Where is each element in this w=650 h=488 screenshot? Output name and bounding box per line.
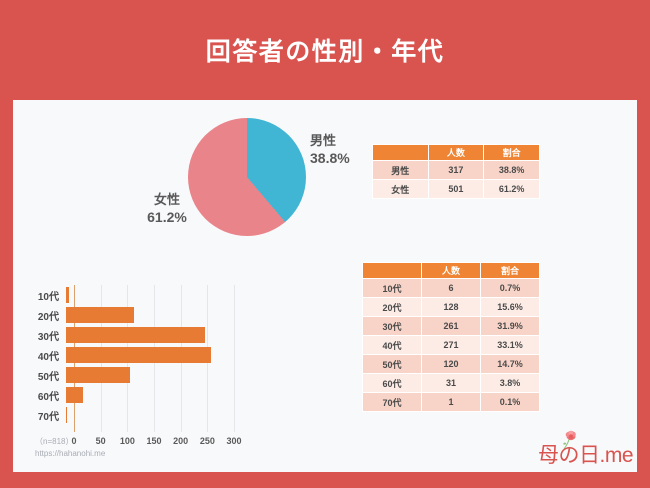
table-row: 60代313.8%: [363, 374, 540, 393]
infographic-root: 回答者の性別・年代 男性 38.8% 女性 61.2% 人数 割合 男性3173…: [0, 0, 650, 488]
x-axis-tick-label: 200: [173, 436, 188, 446]
gender-table-th-0: [373, 145, 429, 161]
source-url: https://hahanohi.me: [35, 448, 105, 460]
gender-pie-chart: [188, 118, 306, 236]
age-table-cell-label: 10代: [363, 279, 422, 298]
age-table-cell-pct: 0.1%: [481, 393, 540, 412]
gender-table-cell-label: 女性: [373, 180, 429, 199]
table-row: 女性50161.2%: [373, 180, 540, 199]
age-table-cell-label: 60代: [363, 374, 422, 393]
x-axis-tick-label: 100: [120, 436, 135, 446]
gender-table-cell-pct: 38.8%: [484, 161, 540, 180]
site-logo[interactable]: 母の日.me: [538, 430, 642, 468]
age-table-cell-count: 120: [422, 355, 481, 374]
age-table-cell-count: 271: [422, 336, 481, 355]
table-header-row: 人数 割合: [363, 263, 540, 279]
table-row: 70代10.1%: [363, 393, 540, 412]
table-row: 10代60.7%: [363, 279, 540, 298]
bar-category-label: 50代: [21, 368, 66, 383]
gender-table-body: 男性31738.8%女性50161.2%: [373, 161, 540, 199]
gridline: [234, 285, 235, 432]
bar-category-label: 10代: [21, 288, 66, 303]
gender-table-cell-label: 男性: [373, 161, 429, 180]
age-table-th-1: 人数: [422, 263, 481, 279]
age-table-th-2: 割合: [481, 263, 540, 279]
age-table-cell-count: 6: [422, 279, 481, 298]
age-table: 人数 割合 10代60.7%20代12815.6%30代26131.9%40代2…: [362, 262, 540, 412]
age-bar-chart: 10代20代30代40代50代60代70代 050100150200250300: [21, 285, 331, 460]
bar-fill: [66, 307, 134, 323]
gender-table-cell-count: 501: [428, 180, 484, 199]
gender-table-th-2: 割合: [484, 145, 540, 161]
bar-row: 40代: [21, 345, 331, 365]
bar-category-label: 40代: [21, 348, 66, 363]
age-table-cell-count: 128: [422, 298, 481, 317]
age-table-cell-label: 30代: [363, 317, 422, 336]
bar-track: [66, 325, 226, 345]
gender-table: 人数 割合 男性31738.8%女性50161.2%: [372, 144, 540, 199]
pie-disc: [188, 118, 306, 236]
bar-fill: [66, 407, 67, 423]
pie-label-female-name: 女性: [138, 191, 196, 208]
table-row: 20代12815.6%: [363, 298, 540, 317]
bar-category-label: 70代: [21, 408, 66, 423]
gender-table-cell-count: 317: [428, 161, 484, 180]
age-table-cell-pct: 33.1%: [481, 336, 540, 355]
table-row: 男性31738.8%: [373, 161, 540, 180]
age-table-body: 10代60.7%20代12815.6%30代26131.9%40代27133.1…: [363, 279, 540, 412]
content-card: 男性 38.8% 女性 61.2% 人数 割合 男性31738.8%女性5016…: [13, 100, 637, 472]
footnote: （n=818） https://hahanohi.me: [35, 436, 105, 460]
age-table-cell-pct: 31.9%: [481, 317, 540, 336]
bar-fill: [66, 387, 83, 403]
age-table-cell-pct: 3.8%: [481, 374, 540, 393]
bar-category-label: 30代: [21, 328, 66, 343]
age-table-cell-count: 1: [422, 393, 481, 412]
gender-table-th-1: 人数: [428, 145, 484, 161]
bar-fill: [66, 287, 69, 303]
bar-category-label: 20代: [21, 308, 66, 323]
gender-table-head: 人数 割合: [373, 145, 540, 161]
pie-label-male: 男性 38.8%: [310, 132, 350, 167]
age-table-cell-count: 31: [422, 374, 481, 393]
age-table-cell-label: 20代: [363, 298, 422, 317]
pie-label-female: 女性 61.2%: [138, 191, 196, 226]
logo-text: 母の日.me: [538, 444, 633, 468]
page-title: 回答者の性別・年代: [206, 32, 445, 68]
x-axis-tick-label: 150: [146, 436, 161, 446]
table-header-row: 人数 割合: [373, 145, 540, 161]
table-row: 40代27133.1%: [363, 336, 540, 355]
sample-size-note: （n=818）: [35, 436, 105, 448]
bar-track: [66, 345, 226, 365]
gender-table-cell-pct: 61.2%: [484, 180, 540, 199]
age-table-cell-count: 261: [422, 317, 481, 336]
age-table-cell-label: 40代: [363, 336, 422, 355]
age-table-cell-pct: 0.7%: [481, 279, 540, 298]
pie-label-female-pct: 61.2%: [138, 208, 196, 226]
table-row: 30代26131.9%: [363, 317, 540, 336]
bar-fill: [66, 367, 130, 383]
bar-category-label: 60代: [21, 388, 66, 403]
x-axis-tick-label: 300: [226, 436, 241, 446]
bar-fill: [66, 327, 205, 343]
pie-label-male-name: 男性: [310, 132, 350, 149]
age-table-cell-label: 70代: [363, 393, 422, 412]
header-bar: 回答者の性別・年代: [0, 0, 650, 100]
x-axis-tick-label: 250: [200, 436, 215, 446]
table-row: 50代12014.7%: [363, 355, 540, 374]
age-table-head: 人数 割合: [363, 263, 540, 279]
bar-fill: [66, 347, 211, 363]
pie-label-male-pct: 38.8%: [310, 149, 350, 167]
bar-row: 30代: [21, 325, 331, 345]
age-table-th-0: [363, 263, 422, 279]
age-table-cell-pct: 14.7%: [481, 355, 540, 374]
age-table-cell-label: 50代: [363, 355, 422, 374]
age-table-cell-pct: 15.6%: [481, 298, 540, 317]
